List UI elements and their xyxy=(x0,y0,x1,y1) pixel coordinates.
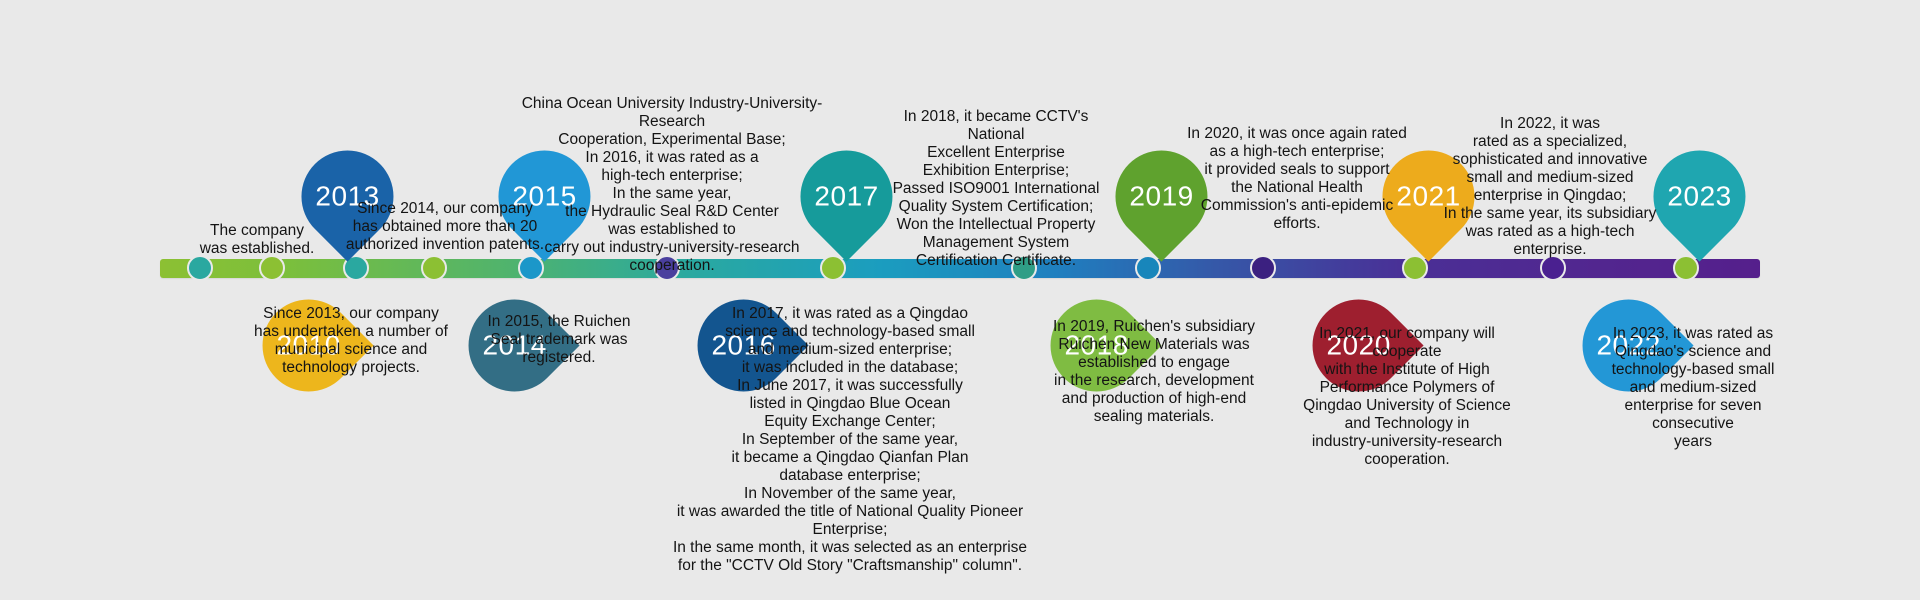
year-pin-label-2019: 2019 xyxy=(1129,181,1193,213)
timeline-node-13[interactable] xyxy=(1673,255,1699,281)
timeline-node-1[interactable] xyxy=(187,255,213,281)
cap-2015-bottom: In 2015, the Ruichen Seal trademark was … xyxy=(458,313,660,367)
cap-2013-bottom: Since 2013, our company has undertaken a… xyxy=(248,305,454,377)
timeline-node-2[interactable] xyxy=(259,255,285,281)
cap-2010-left: The company was established. xyxy=(182,222,332,258)
timeline-infographic: 201320152017201920212023 201020142016201… xyxy=(0,0,1920,600)
timeline-node-4[interactable] xyxy=(421,255,447,281)
cap-2018-top: In 2018, it became CCTV's National Excel… xyxy=(876,108,1116,270)
cap-2016-top: China Ocean University Industry-Universi… xyxy=(512,95,832,275)
cap-2017-bottom: In 2017, it was rated as a Qingdao scien… xyxy=(640,305,1060,575)
cap-2019-bottom: In 2019, Ruichen's subsidiary Ruichen Ne… xyxy=(1050,318,1258,426)
cap-2020-top: In 2020, it was once again rated as a hi… xyxy=(1186,125,1408,233)
timeline-node-11[interactable] xyxy=(1402,255,1428,281)
cap-2022-top: In 2022, it was rated as a specialized, … xyxy=(1434,115,1666,259)
cap-2021-bottom: In 2021, our company will cooperate with… xyxy=(1294,325,1520,469)
timeline-node-10[interactable] xyxy=(1250,255,1276,281)
timeline-node-9[interactable] xyxy=(1135,255,1161,281)
cap-2023-bottom: In 2023, it was rated as Qingdao's scien… xyxy=(1600,325,1786,451)
year-pin-label-2023: 2023 xyxy=(1667,181,1731,213)
timeline-node-12[interactable] xyxy=(1540,255,1566,281)
